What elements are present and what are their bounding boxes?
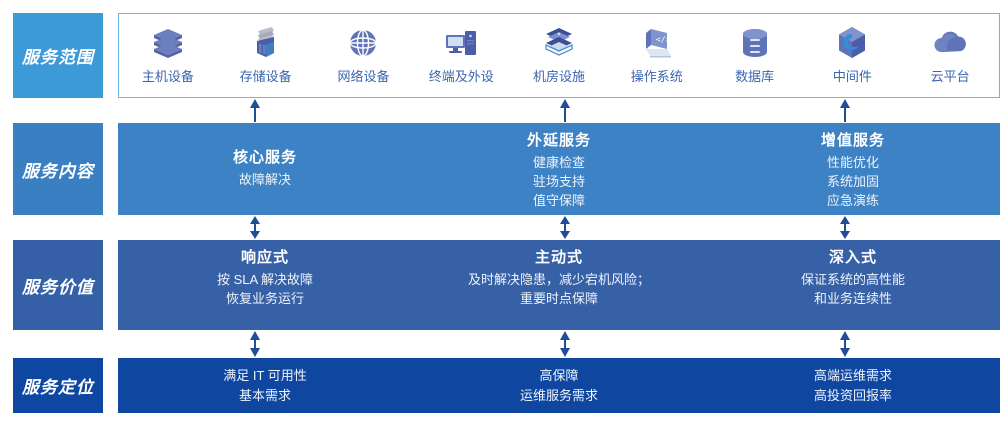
positioning-column-basic: 满足 IT 可用性 基本需求 bbox=[118, 358, 412, 413]
row-service-scope: 服务范围 bbox=[0, 13, 1000, 98]
column-line: 运维服务需求 bbox=[520, 386, 598, 406]
storage-array-icon bbox=[246, 22, 286, 64]
scope-item-cloud[interactable]: 云平台 bbox=[901, 14, 999, 97]
scope-item-label: 机房设施 bbox=[533, 66, 585, 85]
scope-item-host[interactable]: 主机设备 bbox=[119, 14, 217, 97]
column-line: 按 SLA 解决故障 bbox=[217, 271, 313, 290]
scope-item-datacenter[interactable]: 机房设施 bbox=[510, 14, 608, 97]
content-column-extended: 外延服务 健康检查 驻场支持 值守保障 bbox=[412, 123, 706, 215]
scope-item-label: 主机设备 bbox=[142, 66, 194, 85]
connector-scope-to-content bbox=[835, 99, 855, 122]
scope-item-middleware[interactable]: 中间件 bbox=[803, 14, 901, 97]
column-line: 应急演练 bbox=[827, 192, 879, 211]
svg-text:</>: </> bbox=[656, 35, 671, 44]
scope-item-label: 云平台 bbox=[931, 66, 970, 85]
scope-item-label: 中间件 bbox=[833, 66, 872, 85]
positioning-columns: 满足 IT 可用性 基本需求 高保障 运维服务需求 高端运维需求 高投资回报率 bbox=[118, 358, 1000, 413]
column-line: 保证系统的高性能 bbox=[801, 271, 905, 290]
database-cylinder-icon bbox=[735, 22, 775, 64]
scope-item-label: 数据库 bbox=[735, 66, 774, 85]
column-line: 和业务连续性 bbox=[814, 290, 892, 309]
row-body-service-scope: 主机设备 bbox=[118, 13, 1000, 98]
operating-system-icon: </> bbox=[637, 22, 677, 64]
column-title: 主动式 bbox=[535, 248, 583, 268]
scope-item-label: 操作系统 bbox=[631, 66, 683, 85]
column-title: 核心服务 bbox=[233, 148, 297, 168]
connector-scope-to-content bbox=[555, 99, 575, 122]
column-line: 健康检查 bbox=[533, 154, 585, 173]
row-label-text: 服务范围 bbox=[22, 43, 94, 68]
row-label-service-content: 服务内容 bbox=[13, 123, 103, 215]
value-column-proactive: 主动式 及时解决隐患，减少宕机风险； 重要时点保障 bbox=[412, 240, 706, 330]
value-column-responsive: 响应式 按 SLA 解决故障 恢复业务运行 bbox=[118, 240, 412, 330]
positioning-column-assurance: 高保障 运维服务需求 bbox=[412, 358, 706, 413]
connector-scope-to-content bbox=[245, 99, 265, 122]
content-columns: 核心服务 故障解决 外延服务 健康检查 驻场支持 值守保障 增值服务 性能优化 … bbox=[118, 123, 1000, 215]
scope-item-label: 网络设备 bbox=[337, 66, 389, 85]
network-globe-icon bbox=[343, 22, 383, 64]
column-title: 外延服务 bbox=[527, 131, 591, 151]
column-line: 及时解决隐患，减少宕机风险； bbox=[468, 271, 650, 290]
row-label-text: 服务内容 bbox=[22, 157, 94, 182]
scope-icon-strip: 主机设备 bbox=[119, 14, 999, 97]
row-label-service-scope: 服务范围 bbox=[13, 13, 103, 98]
column-line: 重要时点保障 bbox=[520, 290, 598, 309]
column-line: 高保障 bbox=[539, 366, 578, 386]
content-column-valueadd: 增值服务 性能优化 系统加固 应急演练 bbox=[706, 123, 1000, 215]
middleware-cube-icon bbox=[832, 22, 872, 64]
row-label-service-value: 服务价值 bbox=[13, 240, 103, 330]
scope-item-label: 存储设备 bbox=[240, 66, 292, 85]
column-title: 增值服务 bbox=[821, 131, 885, 151]
row-label-text: 服务定位 bbox=[22, 373, 94, 398]
desktop-terminal-icon bbox=[441, 22, 481, 64]
column-line: 系统加固 bbox=[827, 173, 879, 192]
connector-value-to-position bbox=[555, 331, 575, 357]
column-line: 故障解决 bbox=[239, 171, 291, 190]
column-line: 高端运维需求 bbox=[814, 366, 892, 386]
row-service-positioning: 服务定位 满足 IT 可用性 基本需求 高保障 运维服务需求 高端运维需求 高投… bbox=[0, 358, 1000, 413]
content-column-core: 核心服务 故障解决 bbox=[118, 123, 412, 215]
value-columns: 响应式 按 SLA 解决故障 恢复业务运行 主动式 及时解决隐患，减少宕机风险；… bbox=[118, 240, 1000, 330]
row-label-service-positioning: 服务定位 bbox=[13, 358, 103, 413]
row-label-text: 服务价值 bbox=[22, 273, 94, 298]
connector-content-to-value bbox=[555, 216, 575, 239]
column-line: 高投资回报率 bbox=[814, 386, 892, 406]
row-body-service-content: 核心服务 故障解决 外延服务 健康检查 驻场支持 值守保障 增值服务 性能优化 … bbox=[118, 123, 1000, 215]
column-line: 值守保障 bbox=[533, 192, 585, 211]
value-column-indepth: 深入式 保证系统的高性能 和业务连续性 bbox=[706, 240, 1000, 330]
scope-item-os[interactable]: </> 操作系统 bbox=[608, 14, 706, 97]
row-body-service-positioning: 满足 IT 可用性 基本需求 高保障 运维服务需求 高端运维需求 高投资回报率 bbox=[118, 358, 1000, 413]
connector-value-to-position bbox=[245, 331, 265, 357]
scope-item-label: 终端及外设 bbox=[429, 66, 494, 85]
connector-content-to-value bbox=[245, 216, 265, 239]
cloud-platform-icon bbox=[930, 22, 970, 64]
row-service-value: 服务价值 响应式 按 SLA 解决故障 恢复业务运行 主动式 及时解决隐患，减少… bbox=[0, 240, 1000, 330]
scope-item-storage[interactable]: 存储设备 bbox=[217, 14, 315, 97]
scope-item-terminal[interactable]: 终端及外设 bbox=[412, 14, 510, 97]
scope-item-database[interactable]: 数据库 bbox=[706, 14, 804, 97]
connector-content-to-value bbox=[835, 216, 855, 239]
column-line: 基本需求 bbox=[239, 386, 291, 406]
column-line: 性能优化 bbox=[827, 154, 879, 173]
column-line: 恢复业务运行 bbox=[226, 290, 304, 309]
row-service-content: 服务内容 核心服务 故障解决 外延服务 健康检查 驻场支持 值守保障 增值服务 … bbox=[0, 123, 1000, 215]
column-title: 响应式 bbox=[241, 248, 289, 268]
row-body-service-value: 响应式 按 SLA 解决故障 恢复业务运行 主动式 及时解决隐患，减少宕机风险；… bbox=[118, 240, 1000, 330]
column-line: 满足 IT 可用性 bbox=[223, 366, 307, 386]
server-stack-icon bbox=[148, 22, 188, 64]
scope-item-network[interactable]: 网络设备 bbox=[315, 14, 413, 97]
column-title: 深入式 bbox=[829, 248, 877, 268]
connector-value-to-position bbox=[835, 331, 855, 357]
column-line: 驻场支持 bbox=[533, 173, 585, 192]
service-framework-diagram: 服务范围 bbox=[0, 0, 1000, 424]
positioning-column-highend: 高端运维需求 高投资回报率 bbox=[706, 358, 1000, 413]
data-center-rack-icon bbox=[539, 22, 579, 64]
